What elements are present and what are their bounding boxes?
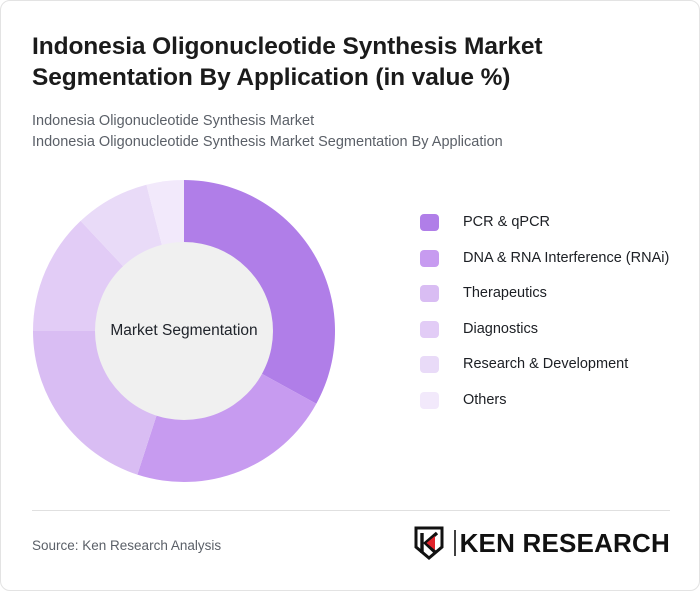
chart-legend: PCR & qPCRDNA & RNA Interference (RNAi)T… xyxy=(420,213,670,426)
legend-item[interactable]: Therapeutics xyxy=(420,284,670,304)
legend-item-label: Others xyxy=(463,391,507,411)
legend-item-label: DNA & RNA Interference (RNAi) xyxy=(463,249,669,269)
donut-hole xyxy=(95,242,273,420)
legend-item[interactable]: Diagnostics xyxy=(420,320,670,340)
footer-divider xyxy=(32,510,670,511)
legend-item[interactable]: PCR & qPCR xyxy=(420,213,670,233)
donut-chart-svg xyxy=(26,173,342,489)
logo-separator-icon xyxy=(450,528,460,558)
legend-swatch-icon xyxy=(420,392,439,409)
chart-card: Indonesia Oligonucleotide Synthesis Mark… xyxy=(0,0,700,591)
legend-swatch-icon xyxy=(420,321,439,338)
legend-swatch-icon xyxy=(420,356,439,373)
subtitle-block: Indonesia Oligonucleotide Synthesis Mark… xyxy=(32,111,632,153)
legend-item[interactable]: DNA & RNA Interference (RNAi) xyxy=(420,249,670,269)
legend-item-label: Therapeutics xyxy=(463,284,547,304)
ken-research-logo-mark-icon xyxy=(413,526,445,560)
subtitle-line-1: Indonesia Oligonucleotide Synthesis Mark… xyxy=(32,111,632,132)
legend-item-label: Research & Development xyxy=(463,355,628,375)
page-title: Indonesia Oligonucleotide Synthesis Mark… xyxy=(32,31,592,93)
legend-swatch-icon xyxy=(420,250,439,267)
legend-item[interactable]: Others xyxy=(420,391,670,411)
legend-item[interactable]: Research & Development xyxy=(420,355,670,375)
source-note: Source: Ken Research Analysis xyxy=(32,538,221,553)
legend-item-label: PCR & qPCR xyxy=(463,213,550,233)
donut-chart: Market Segmentation xyxy=(26,173,342,489)
ken-research-logo: KEN RESEARCH xyxy=(413,525,670,561)
legend-item-label: Diagnostics xyxy=(463,320,538,340)
legend-swatch-icon xyxy=(420,285,439,302)
subtitle-line-2: Indonesia Oligonucleotide Synthesis Mark… xyxy=(32,132,632,153)
ken-research-logo-text: KEN RESEARCH xyxy=(460,530,670,556)
legend-swatch-icon xyxy=(420,214,439,231)
